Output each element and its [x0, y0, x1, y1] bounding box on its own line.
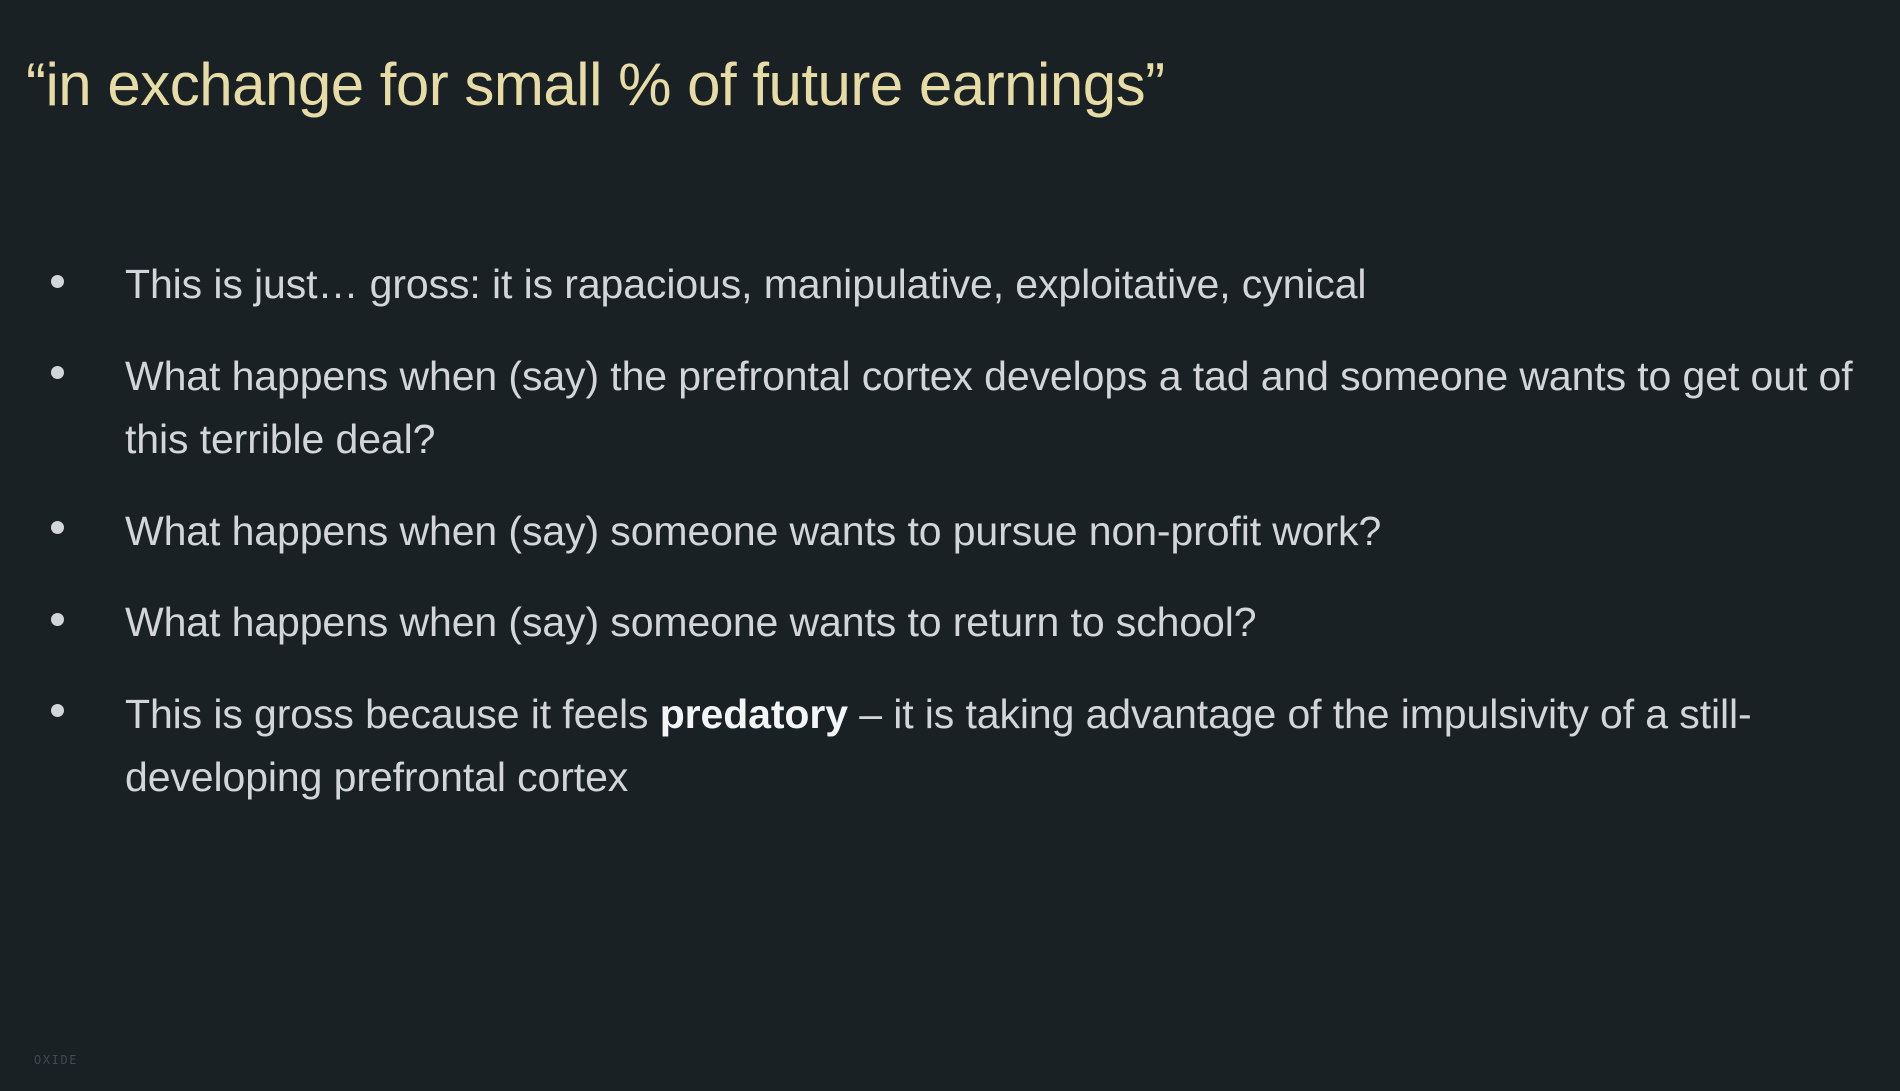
oxide-wordmark: OXIDE [34, 1053, 78, 1067]
bullet-point-icon [51, 366, 64, 379]
list-item: What happens when (say) someone wants to… [34, 591, 1854, 655]
bullet-item-text: This is gross because it feels predatory… [125, 683, 1854, 810]
bullet-point-icon [51, 521, 64, 534]
bullet-point-icon [51, 613, 64, 626]
bullet-list: This is just… gross: it is rapacious, ma… [34, 253, 1854, 810]
page-title: “in exchange for small % of future earni… [26, 52, 1165, 118]
bullet-point-icon [51, 704, 64, 717]
bullet-item-text: What happens when (say) someone wants to… [125, 591, 1854, 655]
list-item: This is gross because it feels predatory… [34, 683, 1854, 810]
bullet-item-text: This is just… gross: it is rapacious, ma… [125, 253, 1854, 317]
bullet-item-text: What happens when (say) the prefrontal c… [125, 345, 1854, 472]
list-item: What happens when (say) someone wants to… [34, 500, 1854, 564]
bullet-point-icon [51, 275, 64, 288]
list-item: This is just… gross: it is rapacious, ma… [34, 253, 1854, 317]
list-item: What happens when (say) the prefrontal c… [34, 345, 1854, 472]
slide-canvas: “in exchange for small % of future earni… [0, 0, 1900, 1091]
bullet-item-text: What happens when (say) someone wants to… [125, 500, 1854, 564]
